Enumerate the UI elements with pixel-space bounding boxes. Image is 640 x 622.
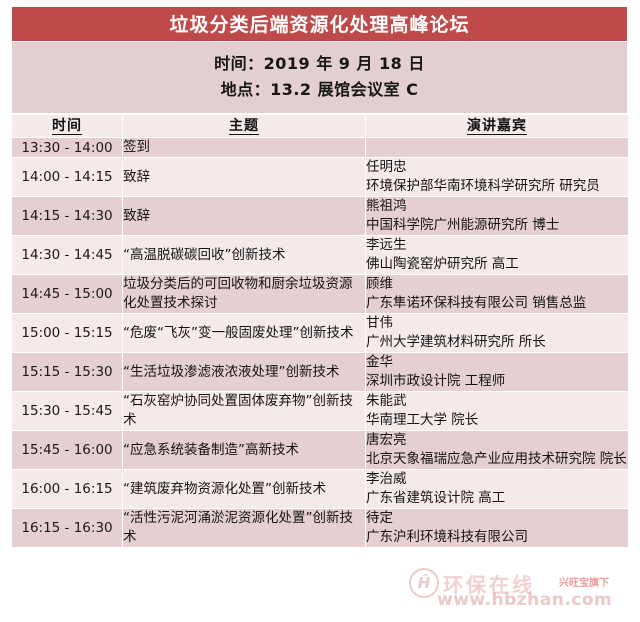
cell-time: 14:00 - 14:15	[12, 158, 123, 197]
table-row: 16:15 - 16:30“活性污泥河涌淤泥资源化处置”创新技术待定广东沪利环境…	[12, 509, 629, 548]
table-row: 14:45 - 15:00垃圾分类后的可回收物和厨余垃圾资源化处置技术探讨顾维广…	[12, 275, 629, 314]
topic-line: 致辞	[123, 207, 365, 226]
guest-name: 李治威	[366, 470, 628, 489]
guest-affiliation: 华南理工大学 院长	[366, 411, 628, 430]
screenshot-page: 垃圾分类后端资源化处理高峰论坛 时间：2019 年 9 月 18 日 地点：13…	[0, 0, 640, 622]
topic-line: 垃圾分类后的可回收物和厨余垃圾资源化处置技术探讨	[123, 275, 365, 313]
table-row: 13:30 - 14:00签到	[12, 138, 629, 158]
agenda-table-head: 时间 主题 演讲嘉宾	[12, 115, 629, 138]
cell-guest: 金华深圳市政设计院 工程师	[366, 353, 629, 392]
cell-topic: 致辞	[123, 158, 366, 197]
cell-topic: “生活垃圾渗滤液浓液处理”创新技术	[123, 353, 366, 392]
cell-guest: 任明忠环境保护部华南环境科学研究所 研究员	[366, 158, 629, 197]
table-row: 15:00 - 15:15“危废“飞灰”变一般固废处理”创新技术甘伟广州大学建筑…	[12, 314, 629, 353]
cell-guest: 李治威广东省建筑设计院 高工	[366, 470, 629, 509]
cell-topic: 签到	[123, 138, 366, 158]
table-row: 14:15 - 14:30致辞熊祖鸿中国科学院广州能源研究所 博士	[12, 197, 629, 236]
column-header-guest: 演讲嘉宾	[366, 115, 629, 138]
guest-affiliation: 北京天象福瑞应急产业应用技术研究院 院长	[366, 450, 628, 469]
topic-line: “生活垃圾渗滤液浓液处理”创新技术	[123, 363, 365, 382]
watermark-brand-text: 环保在线	[443, 569, 535, 598]
guest-affiliation: 环境保护部华南环境科学研究所 研究员	[366, 177, 628, 196]
guest-name: 熊祖鸿	[366, 197, 628, 216]
column-header-time-label: 时间	[52, 119, 82, 135]
guest-name: 朱能武	[366, 392, 628, 411]
table-row: 14:30 - 14:45“高温脱碳碳回收”创新技术李远生佛山陶瓷窑炉研究所 高…	[12, 236, 629, 275]
cell-topic: “应急系统装备制造”高新技术	[123, 431, 366, 470]
cell-time: 15:15 - 15:30	[12, 353, 123, 392]
guest-affiliation: 广东沪利环境科技有限公司	[366, 528, 628, 547]
cell-guest: 顾维广东隼诺环保科技有限公司 销售总监	[366, 275, 629, 314]
column-header-topic: 主题	[123, 115, 366, 138]
guest-name: 任明忠	[366, 158, 628, 177]
cell-topic: “建筑废弃物资源化处置”创新技术	[123, 470, 366, 509]
topic-line: “建筑废弃物资源化处置”创新技术	[123, 480, 365, 499]
agenda-table-body: 13:30 - 14:00签到 14:00 - 14:15致辞任明忠环境保护部华…	[12, 138, 629, 548]
event-date-line: 时间：2019 年 9 月 18 日	[12, 51, 627, 77]
table-row: 15:45 - 16:00“应急系统装备制造”高新技术唐宏亮北京天象福瑞应急产业…	[12, 431, 629, 470]
guest-affiliation: 佛山陶瓷窑炉研究所 高工	[366, 255, 628, 274]
guest-affiliation: 广州大学建筑材料研究所 所长	[366, 333, 628, 352]
cell-guest: 唐宏亮北京天象福瑞应急产业应用技术研究院 院长	[366, 431, 629, 470]
topic-line: “危废“飞灰”变一般固废处理”创新技术	[123, 324, 365, 343]
cell-time: 15:00 - 15:15	[12, 314, 123, 353]
cell-time: 16:00 - 16:15	[12, 470, 123, 509]
event-info-block: 时间：2019 年 9 月 18 日 地点：13.2 展馆会议室 C	[11, 42, 628, 114]
agenda-table: 时间 主题 演讲嘉宾 13:30 - 14:00签到 14:00 - 14:15…	[11, 114, 629, 548]
cell-topic: “危废“飞灰”变一般固废处理”创新技术	[123, 314, 366, 353]
cell-guest: 李远生佛山陶瓷窑炉研究所 高工	[366, 236, 629, 275]
topic-line: 签到	[123, 138, 365, 157]
topic-line: “高温脱碳碳回收”创新技术	[123, 246, 365, 265]
table-row: 15:15 - 15:30“生活垃圾渗滤液浓液处理”创新技术金华深圳市政设计院 …	[12, 353, 629, 392]
watermark-logo-icon: Ĥ	[409, 568, 439, 598]
cell-topic: 致辞	[123, 197, 366, 236]
cell-guest: 熊祖鸿中国科学院广州能源研究所 博士	[366, 197, 629, 236]
guest-affiliation: 广东省建筑设计院 高工	[366, 489, 628, 508]
guest-name: 待定	[366, 509, 628, 528]
forum-title-banner: 垃圾分类后端资源化处理高峰论坛	[11, 6, 628, 42]
agenda-sheet: 垃圾分类后端资源化处理高峰论坛 时间：2019 年 9 月 18 日 地点：13…	[11, 6, 628, 548]
cell-topic: 垃圾分类后的可回收物和厨余垃圾资源化处置技术探讨	[123, 275, 366, 314]
cell-time: 16:15 - 16:30	[12, 509, 123, 548]
guest-affiliation: 广东隼诺环保科技有限公司 销售总监	[366, 294, 628, 313]
topic-line: 致辞	[123, 168, 365, 187]
cell-time: 14:30 - 14:45	[12, 236, 123, 275]
column-header-time: 时间	[12, 115, 123, 138]
guest-affiliation: 深圳市政设计院 工程师	[366, 372, 628, 391]
watermark-sub-text: 兴旺宝旗下	[559, 574, 609, 589]
cell-topic: “石灰窑炉协同处置固体废弃物”创新技术	[123, 392, 366, 431]
cell-time: 15:45 - 16:00	[12, 431, 123, 470]
cell-time: 14:45 - 15:00	[12, 275, 123, 314]
topic-line: “石灰窑炉协同处置固体废弃物”创新技术	[123, 392, 365, 430]
cell-time: 13:30 - 14:00	[12, 138, 123, 158]
cell-guest: 甘伟广州大学建筑材料研究所 所长	[366, 314, 629, 353]
topic-line: “应急系统装备制造”高新技术	[123, 441, 365, 460]
table-row: 14:00 - 14:15致辞任明忠环境保护部华南环境科学研究所 研究员	[12, 158, 629, 197]
guest-affiliation: 中国科学院广州能源研究所 博士	[366, 216, 628, 235]
site-watermark: Ĥ 环保在线 兴旺宝旗下 www.hbzhan.com	[409, 566, 640, 612]
guest-name: 顾维	[366, 275, 628, 294]
cell-guest: 待定广东沪利环境科技有限公司	[366, 509, 629, 548]
column-header-guest-label: 演讲嘉宾	[467, 119, 527, 135]
table-header-row: 时间 主题 演讲嘉宾	[12, 115, 629, 138]
cell-guest: 朱能武华南理工大学 院长	[366, 392, 629, 431]
guest-name: 李远生	[366, 236, 628, 255]
column-header-topic-label: 主题	[229, 119, 259, 135]
guest-name: 金华	[366, 353, 628, 372]
cell-topic: “活性污泥河涌淤泥资源化处置”创新技术	[123, 509, 366, 548]
guest-name: 唐宏亮	[366, 431, 628, 450]
guest-name: 甘伟	[366, 314, 628, 333]
cell-time: 15:30 - 15:45	[12, 392, 123, 431]
topic-line: “活性污泥河涌淤泥资源化处置”创新技术	[123, 509, 365, 547]
cell-topic: “高温脱碳碳回收”创新技术	[123, 236, 366, 275]
event-venue-line: 地点：13.2 展馆会议室 C	[12, 77, 627, 103]
watermark-url-text: www.hbzhan.com	[437, 590, 612, 610]
cell-time: 14:15 - 14:30	[12, 197, 123, 236]
cell-guest	[366, 138, 629, 158]
table-row: 16:00 - 16:15“建筑废弃物资源化处置”创新技术李治威广东省建筑设计院…	[12, 470, 629, 509]
table-row: 15:30 - 15:45“石灰窑炉协同处置固体废弃物”创新技术朱能武华南理工大…	[12, 392, 629, 431]
